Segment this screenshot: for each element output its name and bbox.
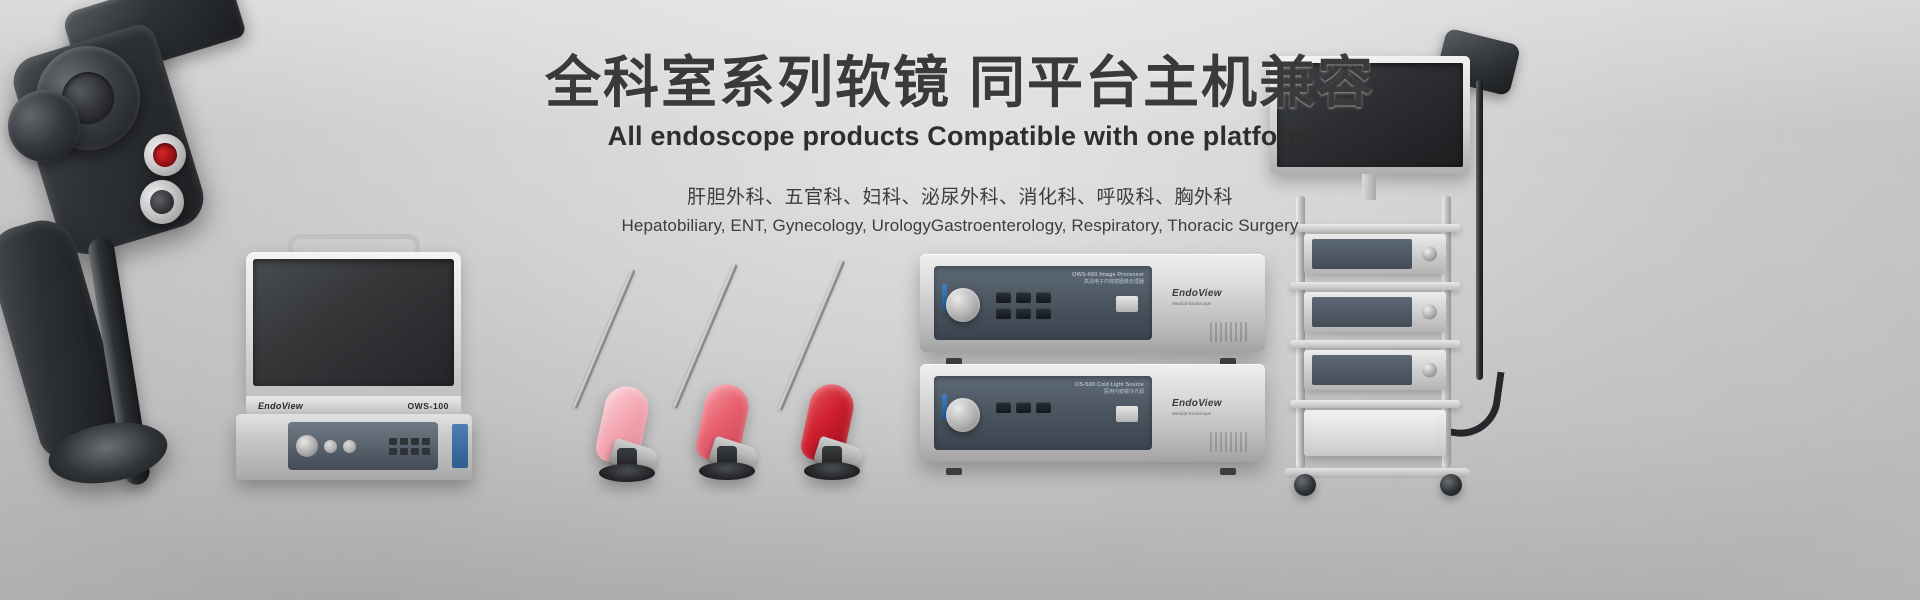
lightsource-output-port — [1116, 406, 1138, 422]
processor-vents — [1210, 322, 1247, 342]
cart-shelf-2 — [1290, 282, 1460, 290]
ows-model-label: OWS-100 — [407, 401, 449, 411]
cart-device-1-dial — [1422, 247, 1437, 262]
ows-blue-accent-tab — [452, 424, 468, 468]
cart-device-4 — [1304, 410, 1446, 456]
ows-workstation-unit: EndoView OWS-100 — [236, 252, 486, 484]
processor-subbrand-label: Medical Endoscope — [1172, 301, 1211, 306]
lightsource-button-grid — [996, 402, 1051, 413]
ows-aux-knob-2 — [343, 440, 356, 453]
cart-device-4-panel — [1312, 415, 1436, 451]
ows-monitor-screen — [253, 259, 454, 386]
surgical-instrument-red — [706, 248, 876, 488]
ows-main-dial — [296, 435, 318, 457]
processor-label-block: OWS-600 Image Processor 高清电子内窥镜图像处理器 — [1072, 272, 1144, 285]
cart-device-2 — [1304, 292, 1446, 332]
processor-label-cn: 高清电子内窥镜图像处理器 — [1072, 279, 1144, 285]
departments-english: Hepatobiliary, ENT, Gynecology, UrologyG… — [510, 216, 1410, 236]
cart-scope-tube — [1476, 80, 1483, 380]
processor-front-panel: OWS-600 Image Processor 高清电子内窥镜图像处理器 — [934, 266, 1152, 340]
lightsource-main-dial — [946, 398, 980, 432]
processor-label-en: OWS-600 Image Processor — [1072, 272, 1144, 279]
processor-usb-port — [1116, 296, 1138, 312]
ows-aux-knob-1 — [324, 440, 337, 453]
cart-shelf-4 — [1290, 400, 1460, 408]
lightsource-label-cn: 医用内窥镜冷光源 — [1075, 389, 1144, 395]
cart-device-3 — [1304, 350, 1446, 390]
cart-device-2-dial — [1422, 305, 1437, 320]
cart-device-3-panel — [1312, 355, 1412, 385]
cart-device-2-panel — [1312, 297, 1412, 327]
lightsource-vents — [1210, 432, 1247, 452]
subtitle-english: All endoscope products Compatible with o… — [510, 121, 1410, 152]
ows-keypad — [389, 438, 430, 455]
cart-shelf-3 — [1290, 340, 1460, 348]
page-title: 全科室系列软镜同平台主机兼容 — [510, 52, 1410, 115]
ows-brand-bar: EndoView OWS-100 — [246, 396, 461, 416]
cart-caster-left — [1294, 474, 1316, 496]
lightsource-brand-label: EndoView — [1172, 398, 1222, 409]
headline-segment-1: 全科室系列软镜 — [545, 51, 951, 114]
cart-caster-right — [1440, 474, 1462, 496]
light-source-console: OS-500 Cold Light Source 医用内窥镜冷光源 EndoVi… — [920, 364, 1265, 462]
image-processor-console: OWS-600 Image Processor 高清电子内窥镜图像处理器 End… — [920, 254, 1265, 352]
ows-base-unit — [236, 414, 472, 480]
headline-segment-2: 同平台主机兼容 — [969, 51, 1375, 114]
instrument-stand — [804, 462, 860, 480]
processor-main-dial — [946, 288, 980, 322]
ows-brand-label: EndoView — [258, 401, 303, 411]
hero-text-block: 全科室系列软镜同平台主机兼容 All endoscope products Co… — [510, 52, 1410, 236]
lightsource-label-en: OS-500 Cold Light Source — [1075, 382, 1144, 389]
ows-control-panel — [288, 422, 438, 470]
lightsource-subbrand-label: Medical Endoscope — [1172, 411, 1211, 416]
lightsource-label-block: OS-500 Cold Light Source 医用内窥镜冷光源 — [1075, 382, 1144, 395]
lightsource-front-panel: OS-500 Cold Light Source 医用内窥镜冷光源 — [934, 376, 1152, 450]
stacked-console-units: OWS-600 Image Processor 高清电子内窥镜图像处理器 End… — [920, 254, 1270, 474]
cart-device-3-dial — [1422, 363, 1437, 378]
departments-chinese: 肝胆外科、五官科、妇科、泌尿外科、消化科、呼吸科、胸外科 — [510, 182, 1410, 209]
ows-monitor-bezel — [246, 252, 461, 402]
processor-button-grid — [996, 292, 1051, 319]
cart-device-1 — [1304, 234, 1446, 274]
hero-banner: EndoView OWS-100 — [0, 0, 1920, 600]
cart-device-1-panel — [1312, 239, 1412, 269]
processor-brand-label: EndoView — [1172, 288, 1222, 299]
